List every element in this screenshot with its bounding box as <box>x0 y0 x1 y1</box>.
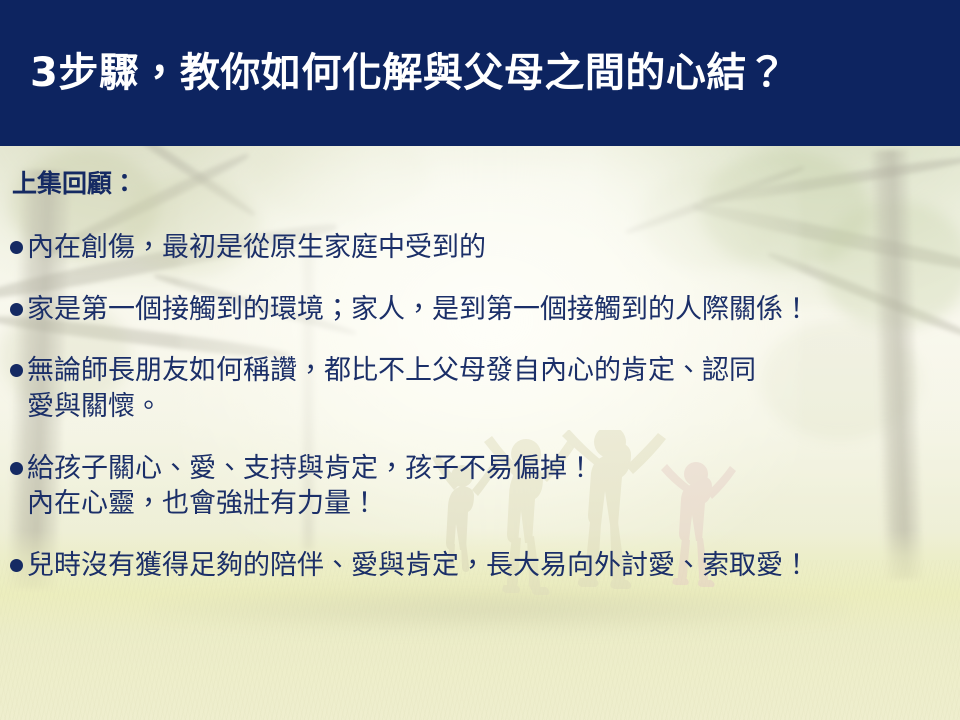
list-item-text: 無論師長朋友如何稱讚，都比不上父母發自內心的肯定、認同 愛與關懷。 <box>27 353 956 424</box>
page-title: 3步驟，教你如何化解與父母之間的心結？ <box>0 51 787 95</box>
list-item: 兒時沒有獲得足夠的陪伴、愛與肯定，長大易向外討愛、索取愛！ <box>10 548 956 584</box>
list-item: 家是第一個接觸到的環境；家人，是到第一個接觸到的人際關係！ <box>10 292 956 328</box>
filled-circle-bullet-icon <box>10 559 23 572</box>
filled-circle-bullet-icon <box>10 241 23 254</box>
list-item: 給孩子關心、愛、支持與肯定，孩子不易偏掉！ 內在心靈，也會強壯有力量！ <box>10 451 956 522</box>
filled-circle-bullet-icon <box>10 462 23 475</box>
list-item: 無論師長朋友如何稱讚，都比不上父母發自內心的肯定、認同 愛與關懷。 <box>10 353 956 424</box>
filled-circle-bullet-icon <box>10 364 23 377</box>
presentation-slide: 3步驟，教你如何化解與父母之間的心結？ 上集回顧： 內在創傷，最初是從原生家庭中… <box>0 0 960 720</box>
list-item-line: 家是第一個接觸到的環境；家人，是到第一個接觸到的人際關係！ <box>27 292 956 328</box>
bullet-list: 內在創傷，最初是從原生家庭中受到的 家是第一個接觸到的環境；家人，是到第一個接觸… <box>10 230 956 609</box>
list-item-line: 兒時沒有獲得足夠的陪伴、愛與肯定，長大易向外討愛、索取愛！ <box>27 548 956 584</box>
list-item-line: 愛與關懷。 <box>27 389 956 425</box>
slide-body: 上集回顧： 內在創傷，最初是從原生家庭中受到的 家是第一個接觸到的環境；家人，是… <box>0 146 960 720</box>
list-item-line: 無論師長朋友如何稱讚，都比不上父母發自內心的肯定、認同 <box>27 353 956 389</box>
list-item-text: 內在創傷，最初是從原生家庭中受到的 <box>27 230 956 266</box>
recap-heading: 上集回顧： <box>12 164 137 200</box>
title-bar: 3步驟，教你如何化解與父母之間的心結？ <box>0 0 960 146</box>
list-item-line: 內在心靈，也會強壯有力量！ <box>27 486 956 522</box>
list-item-line: 給孩子關心、愛、支持與肯定，孩子不易偏掉！ <box>27 451 956 487</box>
filled-circle-bullet-icon <box>10 303 23 316</box>
list-item-text: 兒時沒有獲得足夠的陪伴、愛與肯定，長大易向外討愛、索取愛！ <box>27 548 956 584</box>
list-item: 內在創傷，最初是從原生家庭中受到的 <box>10 230 956 266</box>
list-item-text: 給孩子關心、愛、支持與肯定，孩子不易偏掉！ 內在心靈，也會強壯有力量！ <box>27 451 956 522</box>
list-item-text: 家是第一個接觸到的環境；家人，是到第一個接觸到的人際關係！ <box>27 292 956 328</box>
list-item-line: 內在創傷，最初是從原生家庭中受到的 <box>27 230 956 266</box>
